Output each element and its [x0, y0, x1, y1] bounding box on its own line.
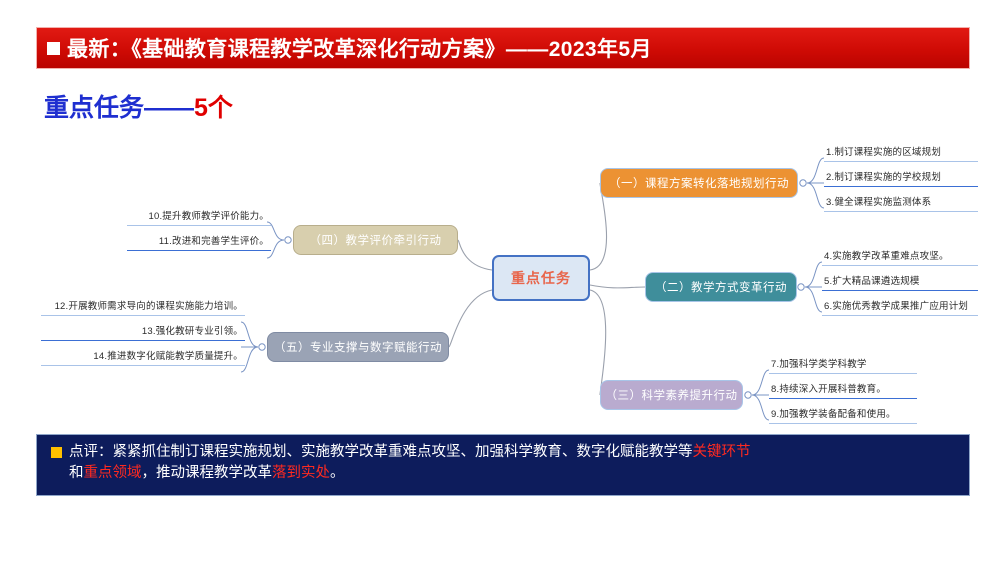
mindmap-leaf-item[interactable]: 11.改进和完善学生评价。: [127, 233, 271, 251]
mindmap-leaf-item[interactable]: 2.制订课程实施的学校规划: [824, 169, 978, 187]
mindmap-center-label: 重点任务: [511, 268, 571, 288]
subtitle-count-text: 5个: [194, 94, 233, 122]
mindmap-branch-label: （一）课程方案转化落地规划行动: [609, 175, 789, 191]
mindmap-branch-label: （二）教学方式变革行动: [655, 279, 787, 295]
mindmap-branch-label: （四）教学评价牵引行动: [310, 232, 442, 248]
mindmap-leaf-item[interactable]: 14.推进数字化赋能教学质量提升。: [41, 348, 245, 366]
slide-canvas: 最新：《基础教育课程教学改革深化行动方案》——2023年5月 重点任务——5个: [0, 0, 1000, 505]
mindmap-leaf-item[interactable]: 12.开展教师需求导向的课程实施能力培训。: [41, 298, 245, 316]
comment-text-part2: 和: [69, 465, 84, 481]
comment-highlight-3: 落到实处: [272, 465, 330, 481]
mindmap-leaf-item[interactable]: 7.加强科学类学科教学: [769, 356, 917, 374]
mindmap-leaf-item[interactable]: 6.实施优秀教学成果推广应用计划: [822, 298, 978, 316]
comment-text-part3: ，推动课程教学改革: [142, 465, 273, 481]
mindmap-diagram: 重点任务 （一）课程方案转化落地规划行动 （二）教学方式变革行动 （三）科学素养…: [0, 130, 1000, 430]
comment-bar: 点评：紧紧抓住制订课程实施规划、实施教学改革重难点攻坚、加强科学教育、数字化赋能…: [36, 434, 970, 496]
mindmap-branch-node-4[interactable]: （四）教学评价牵引行动: [293, 225, 458, 255]
mindmap-leaf-item[interactable]: 3.健全课程实施监测体系: [824, 194, 978, 212]
mindmap-leaf-item[interactable]: 4.实施教学改革重难点攻坚。: [822, 248, 978, 266]
comment-text-part4: 。: [330, 465, 345, 481]
mindmap-leaf-item[interactable]: 5.扩大精品课遴选规模: [822, 273, 978, 291]
mindmap-branch-node-2[interactable]: （二）教学方式变革行动: [645, 272, 797, 302]
mindmap-branch-node-5[interactable]: （五）专业支撑与数字赋能行动: [267, 332, 449, 362]
mindmap-leaf-item[interactable]: 9.加强教学装备配备和使用。: [769, 406, 917, 424]
presentation-slide: 最新：《基础教育课程教学改革深化行动方案》——2023年5月 重点任务——5个: [0, 0, 1000, 562]
mindmap-branch-label: （三）科学素养提升行动: [606, 387, 738, 403]
comment-highlight-2: 重点领域: [84, 465, 142, 481]
mindmap-branch-label: （五）专业支撑与数字赋能行动: [274, 339, 442, 355]
mindmap-branch-node-3[interactable]: （三）科学素养提升行动: [600, 380, 743, 410]
section-subtitle: 重点任务——5个: [44, 88, 233, 124]
comment-highlight-1: 关键环节: [693, 444, 751, 460]
square-bullet-icon: [51, 447, 62, 458]
mindmap-leaf-item[interactable]: 1.制订课程实施的区域规划: [824, 144, 978, 162]
comment-line-1: 点评：紧紧抓住制订课程实施规划、实施教学改革重难点攻坚、加强科学教育、数字化赋能…: [49, 442, 957, 463]
page-title: 最新：《基础教育课程教学改革深化行动方案》——2023年5月: [67, 33, 652, 63]
mindmap-leaf-item[interactable]: 8.持续深入开展科普教育。: [769, 381, 917, 399]
slide-header-bar: 最新：《基础教育课程教学改革深化行动方案》——2023年5月: [36, 27, 970, 69]
square-bullet-icon: [47, 42, 60, 55]
comment-text-part1: 点评：紧紧抓住制订课程实施规划、实施教学改革重难点攻坚、加强科学教育、数字化赋能…: [69, 444, 693, 460]
comment-line-2: 和重点领域，推动课程教学改革落到实处。: [49, 463, 957, 484]
mindmap-center-node[interactable]: 重点任务: [492, 255, 590, 301]
mindmap-leaf-item[interactable]: 13.强化教研专业引领。: [41, 323, 245, 341]
subtitle-main-text: 重点任务——: [44, 94, 194, 122]
mindmap-branch-node-1[interactable]: （一）课程方案转化落地规划行动: [600, 168, 798, 198]
mindmap-leaf-item[interactable]: 10.提升教师教学评价能力。: [127, 208, 271, 226]
